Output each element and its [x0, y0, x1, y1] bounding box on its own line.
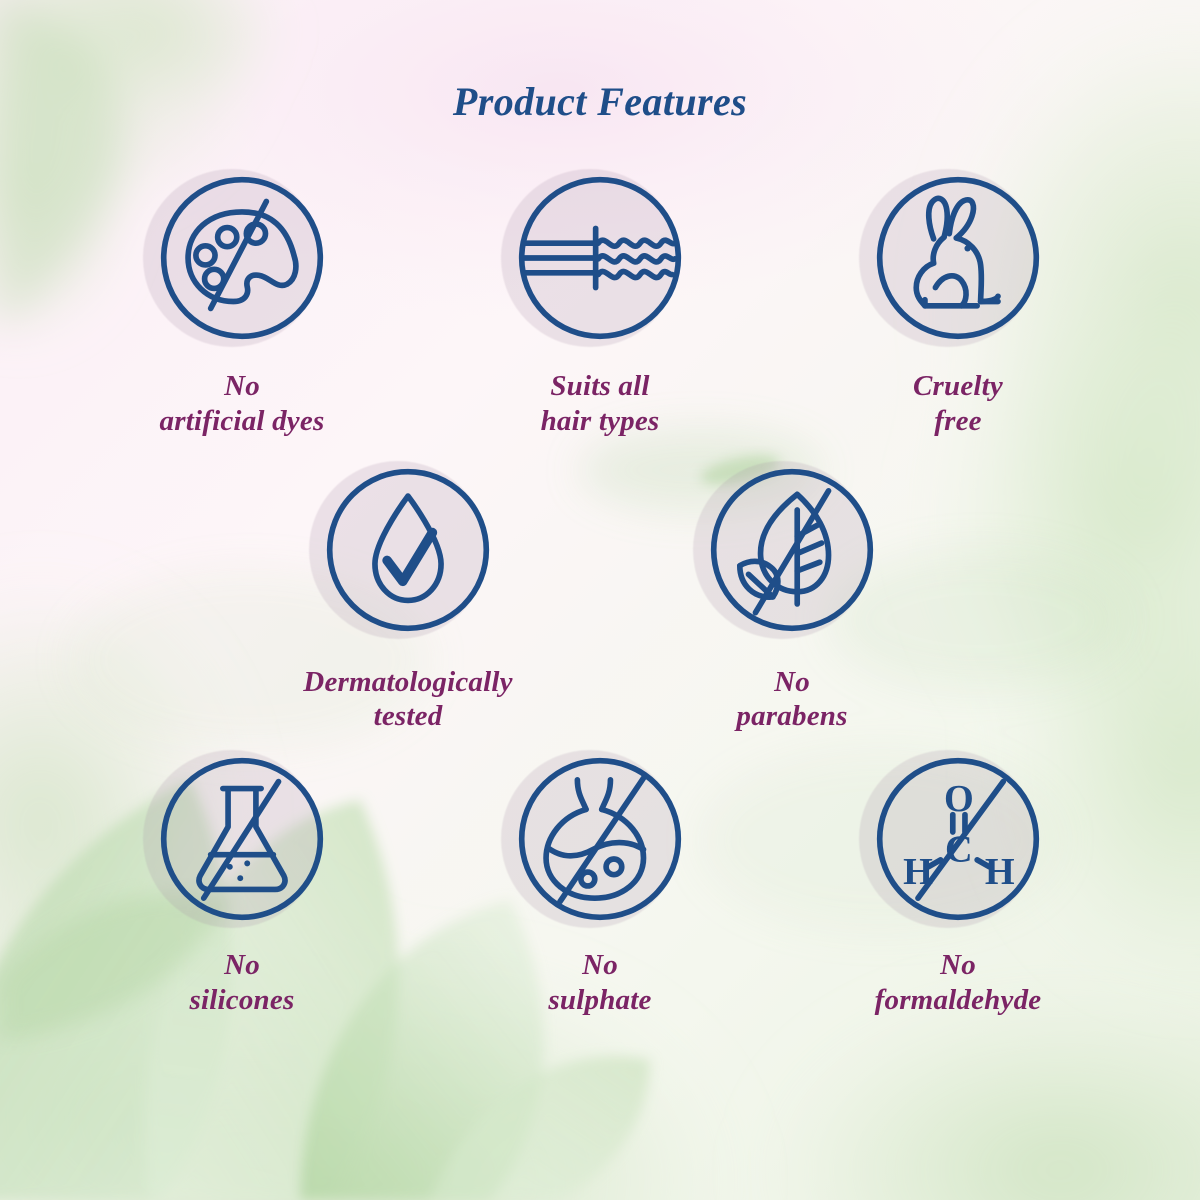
- badge-no-formaldehyde: O C H H: [863, 750, 1053, 940]
- features-row-3: No silicones: [0, 750, 1200, 1018]
- features-grid: No artificial dyes: [0, 169, 1200, 1018]
- badge-suits-all-hair-types: [505, 169, 695, 359]
- feature-label: No silicones: [190, 948, 295, 1018]
- badge-no-sulphate: [505, 750, 695, 940]
- feature-label: No sulphate: [548, 948, 651, 1018]
- feature-suits-all-hair-types[interactable]: Suits all hair types: [471, 169, 729, 439]
- feature-no-parabens[interactable]: No parabens: [663, 461, 921, 735]
- features-row-1: No artificial dyes: [0, 169, 1200, 439]
- feature-label: Cruelty free: [913, 369, 1003, 439]
- feature-no-artificial-dyes[interactable]: No artificial dyes: [113, 169, 371, 439]
- oxygen-label: O: [944, 778, 974, 820]
- features-row-2: Dermatologically tested: [0, 461, 1200, 735]
- paint-palette-slashed-icon: [155, 171, 329, 345]
- feature-label: No formaldehyde: [875, 948, 1042, 1018]
- page-title: Product Features: [0, 78, 1200, 125]
- rabbit-icon: [871, 171, 1045, 345]
- badge-no-silicones: [147, 750, 337, 940]
- badge-dermatologically-tested: [313, 461, 503, 651]
- leaf-slashed-icon: [705, 463, 879, 637]
- feature-label: Suits all hair types: [541, 369, 660, 439]
- feature-cruelty-free[interactable]: Cruelty free: [829, 169, 1087, 439]
- erlenmeyer-flask-slashed-icon: [155, 752, 329, 926]
- straight-and-wavy-hair-icon: [513, 171, 687, 345]
- feature-no-formaldehyde[interactable]: O C H H No formaldehyde: [829, 750, 1087, 1018]
- feature-no-silicones[interactable]: No silicones: [113, 750, 371, 1018]
- feature-label: Dermatologically tested: [303, 665, 512, 735]
- formaldehyde-molecule-slashed-icon: O C H H: [871, 752, 1045, 926]
- water-droplet-with-check-icon: [321, 463, 495, 637]
- feature-label: No artificial dyes: [160, 369, 325, 439]
- badge-no-artificial-dyes: [147, 169, 337, 359]
- badge-no-parabens: [697, 461, 887, 651]
- carbon-label: C: [945, 829, 973, 871]
- feature-no-sulphate[interactable]: No sulphate: [471, 750, 729, 1018]
- feature-label: No parabens: [736, 665, 847, 735]
- hydrogen-right-label: H: [985, 851, 1015, 893]
- round-flask-bubbles-slashed-icon: [513, 752, 687, 926]
- badge-cruelty-free: [863, 169, 1053, 359]
- feature-dermatologically-tested[interactable]: Dermatologically tested: [279, 461, 537, 735]
- hydrogen-left-label: H: [903, 851, 933, 893]
